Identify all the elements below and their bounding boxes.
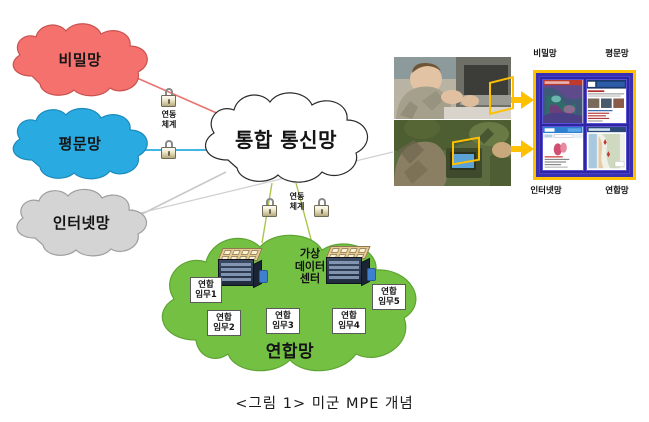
mission-box-4[interactable]: 연합 임무4 [332, 308, 366, 334]
figure-canvas: 비밀망 평문망 인터넷망 통합 통신망 연합망 연동 체계 [0, 0, 649, 422]
pane-federated[interactable] [586, 126, 628, 171]
mission-box-2[interactable]: 연합 임무2 [207, 310, 241, 336]
mission-box-1[interactable]: 연합 임무1 [190, 277, 222, 303]
pane-internet[interactable] [542, 126, 584, 171]
mission-box-3[interactable]: 연합 임무3 [266, 308, 300, 334]
multi-network-display[interactable] [533, 70, 636, 180]
photo-highlight-bottom [452, 137, 480, 166]
virtual-data-center-label: 가상 데이터 센터 [286, 248, 334, 286]
lock-label-left: 연동 체계 [148, 110, 190, 129]
figure-caption: <그림 1> 미군 MPE 개념 [0, 392, 649, 413]
cloud-core-network: 통합 통신망 [196, 88, 376, 188]
padlock-icon-core-right [314, 198, 329, 217]
padlock-icon-core-left [262, 198, 277, 217]
pane-secret[interactable] [542, 79, 584, 124]
cloud-internet-network: 인터넷망 [10, 186, 153, 258]
mission-box-5[interactable]: 연합 임무5 [372, 284, 406, 310]
lock-label-core: 연동 체계 [280, 192, 314, 211]
database-icon-left [259, 270, 268, 283]
monitor-label-internet: 인터넷망 [518, 184, 574, 196]
photo-highlight-top [489, 76, 514, 115]
cloud-plain-network: 평문망 [6, 105, 154, 181]
monitor-label-secret: 비밀망 [520, 47, 570, 59]
monitor-label-plain: 평문망 [592, 47, 642, 59]
pane-plain[interactable] [586, 79, 628, 124]
database-icon-right [367, 268, 376, 281]
cloud-secret-network: 비밀망 [6, 20, 154, 98]
server-rack-left [218, 248, 264, 288]
padlock-icon-secret [161, 88, 176, 107]
padlock-icon-plain [161, 140, 176, 159]
monitor-label-federated: 연합망 [592, 184, 642, 196]
